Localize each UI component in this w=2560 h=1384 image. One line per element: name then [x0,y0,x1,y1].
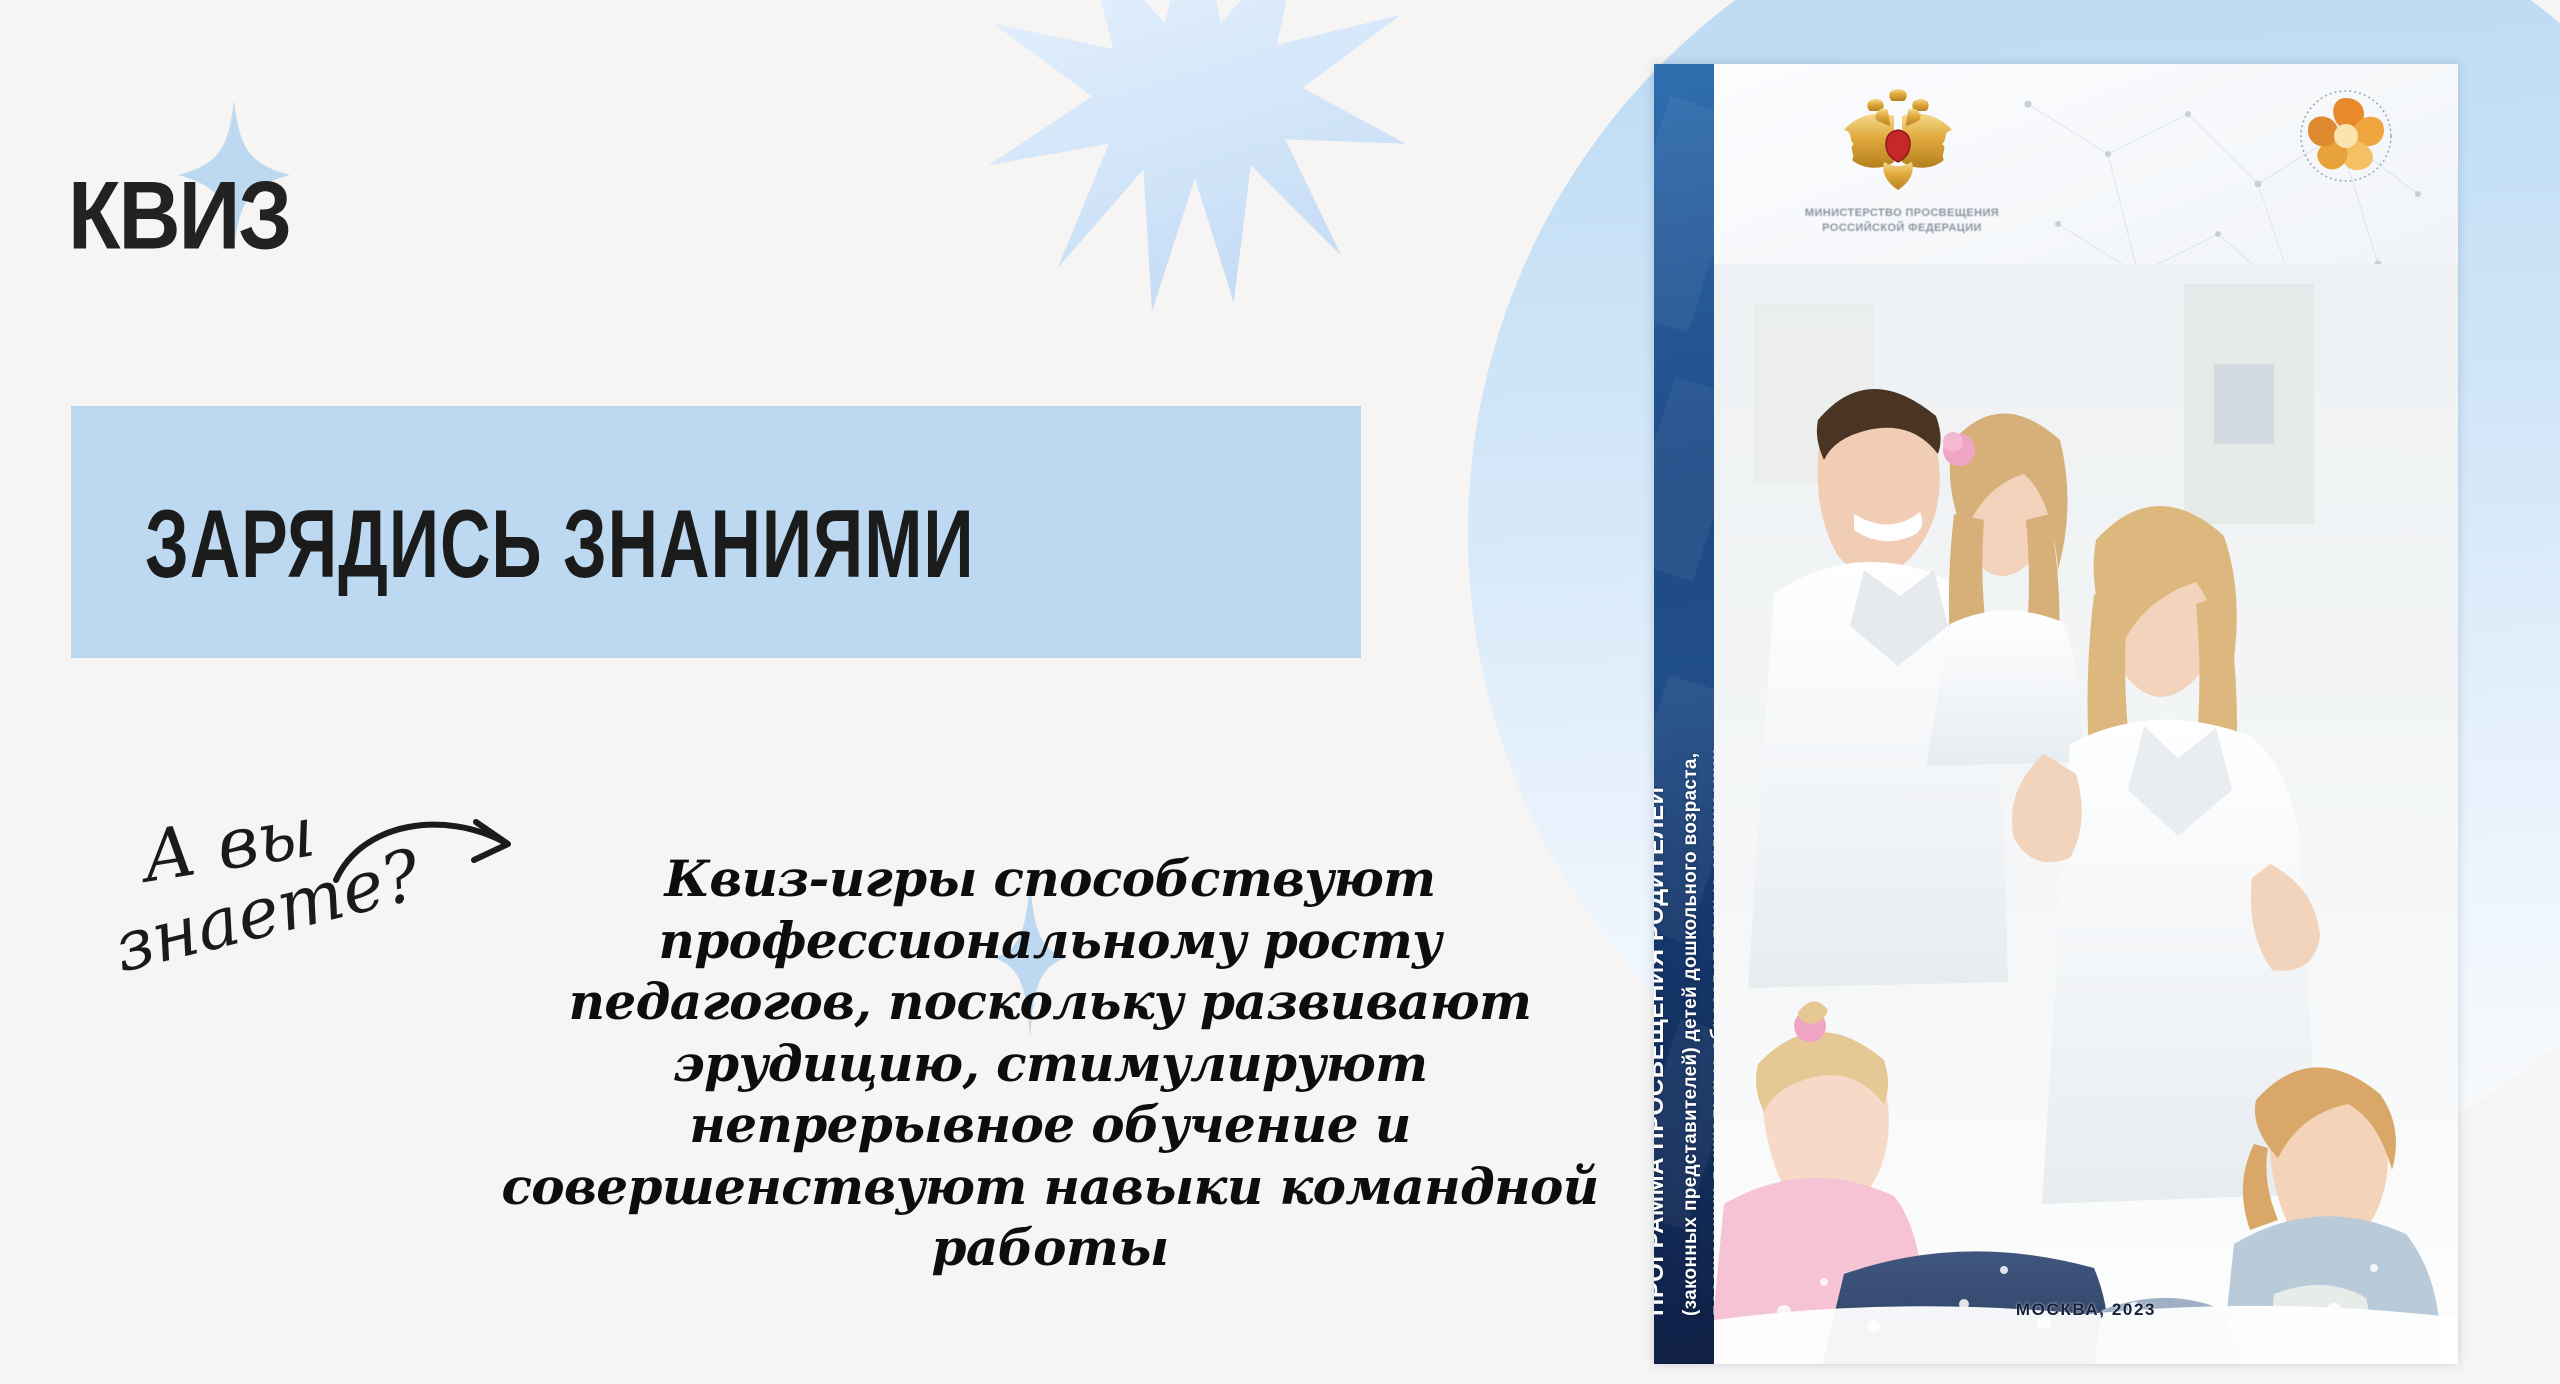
russian-federation-eagle-emblem-icon [1832,86,1964,202]
book-cover-image: ПРОГРАММА ПРОСВЕЩЕНИЯ РОДИТЕЛЕЙ (законны… [1654,64,2458,1364]
slide-canvas: КВИЗ ЗАРЯДИСЬ ЗНАНИЯМИ А вы знаете? Квиз… [0,0,2560,1384]
book-front-face: МИНИСТЕРСТВО ПРОСВЕЩЕНИЯ РОССИЙСКОЙ ФЕДЕ… [1714,64,2458,1364]
handwritten-note: А вы знаете? [96,778,444,971]
banner-title: ЗАРЯДИСЬ ЗНАНИЯМИ [145,490,1251,600]
spine-line-1: ПРОГРАММА ПРОСВЕЩЕНИЯ РОДИТЕЛЕЙ [1654,787,1670,1316]
spine-line-2: (законных представителей) детей дошкольн… [1680,753,1702,1316]
family-photo [1714,264,2458,1364]
orange-rosette-logo-icon [2286,78,2406,198]
body-paragraph: Квиз-игры способствуют профессиональному… [500,848,1600,1279]
starburst-decoration [980,0,1410,320]
page-title: КВИЗ [68,168,290,264]
ministry-caption: МИНИСТЕРСТВО ПРОСВЕЩЕНИЯ РОССИЙСКОЙ ФЕДЕ… [1772,206,2032,236]
book-footer-text: МОСКВА, 2023 [1714,1300,2458,1320]
